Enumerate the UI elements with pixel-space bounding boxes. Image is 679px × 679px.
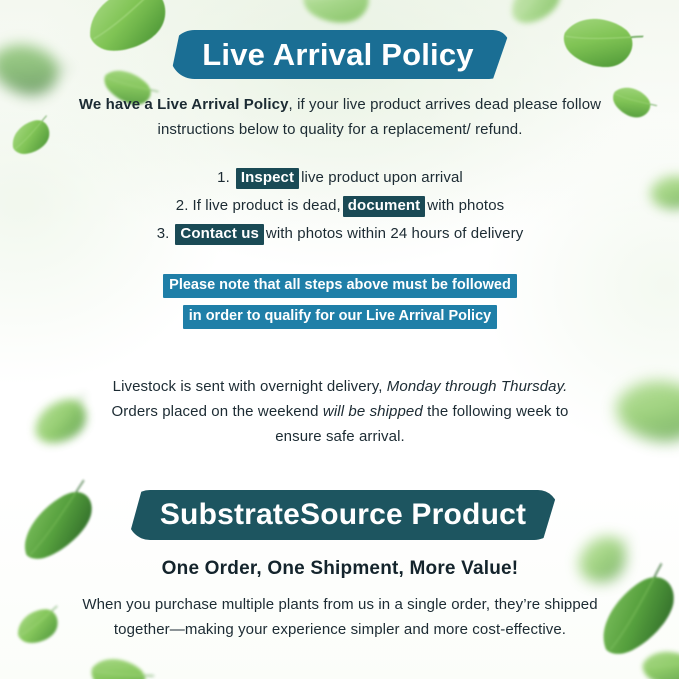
step-text-before: If live product is dead, — [192, 197, 340, 214]
shipping-part-1: Livestock is sent with overnight deliver… — [113, 378, 383, 395]
live-arrival-policy-infographic: Live Arrival Policy We have a Live Arriv… — [0, 0, 679, 679]
intro-paragraph: We have a Live Arrival Policy, if your l… — [70, 92, 610, 142]
note-line-2: in order to qualify for our Live Arrival… — [183, 305, 497, 329]
shipping-italic-1: Monday through Thursday. — [387, 378, 568, 395]
shipping-part-2: Orders placed on the weekend — [112, 403, 319, 420]
live-arrival-policy-banner: Live Arrival Policy — [170, 30, 510, 79]
shipping-schedule-paragraph: Livestock is sent with overnight deliver… — [90, 374, 590, 449]
step-text-after: with photos within 24 hours of delivery — [266, 225, 523, 242]
step-text-after: with photos — [427, 197, 504, 214]
step-number: 1. — [217, 169, 230, 186]
note-line-1: Please note that all steps above must be… — [163, 274, 517, 298]
step-text-after: live product upon arrival — [301, 169, 463, 186]
live-arrival-policy-banner-title: Live Arrival Policy — [202, 37, 473, 73]
step-keyword-chip: Contact us — [175, 224, 264, 245]
policy-note-block: Please note that all steps above must be… — [100, 274, 580, 329]
step-number: 3. — [157, 225, 170, 242]
substratesource-product-banner: SubstrateSource Product — [128, 490, 558, 540]
value-proposition-paragraph: When you purchase multiple plants from u… — [80, 592, 600, 642]
infographic-content: Live Arrival Policy We have a Live Arriv… — [0, 0, 679, 679]
intro-bold-lead: We have a Live Arrival Policy — [79, 96, 289, 113]
note-line-1-wrap: Please note that all steps above must be… — [100, 274, 580, 298]
list-item: 2.If live product is dead,documentwith p… — [100, 192, 580, 220]
policy-steps-list: 1.Inspectlive product upon arrival 2.If … — [100, 164, 580, 248]
substratesource-product-banner-title: SubstrateSource Product — [160, 498, 526, 532]
list-item: 1.Inspectlive product upon arrival — [100, 164, 580, 192]
step-keyword-chip: document — [343, 196, 425, 217]
shipping-italic-2: will be shipped — [323, 403, 423, 420]
step-number: 2. — [176, 197, 189, 214]
note-line-2-wrap: in order to qualify for our Live Arrival… — [100, 305, 580, 329]
step-keyword-chip: Inspect — [236, 168, 299, 189]
value-proposition-heading: One Order, One Shipment, More Value! — [80, 558, 600, 580]
list-item: 3.Contact uswith photos within 24 hours … — [100, 220, 580, 248]
